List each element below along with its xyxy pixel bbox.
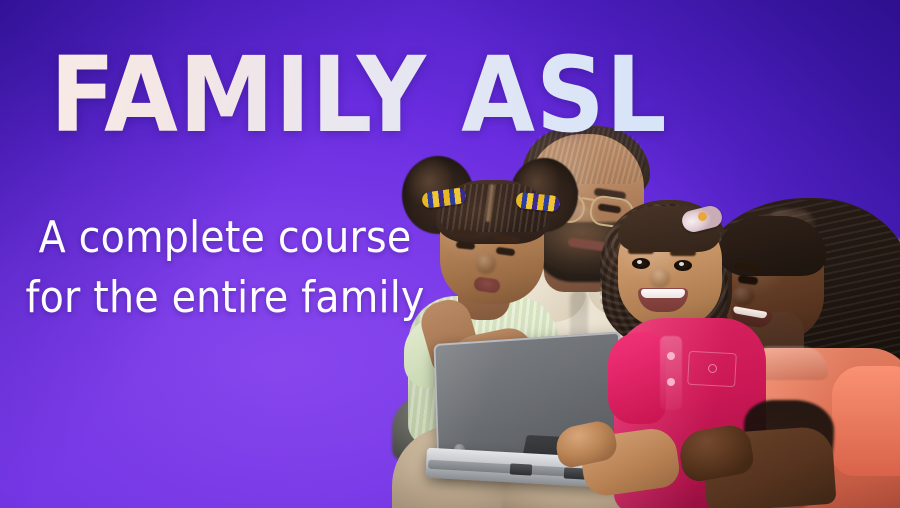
- girl-teeth: [641, 289, 685, 298]
- subtitle-line-2: for the entire family: [0, 268, 450, 328]
- girl-shirt-button-bottom: [667, 378, 675, 386]
- girl-eyebrow-left: [628, 248, 654, 254]
- girl-shirt-button-top: [667, 352, 675, 360]
- girl-eye-highlight-right: [679, 262, 684, 266]
- girl-sleeve: [608, 332, 666, 424]
- mother-sleeve: [832, 366, 900, 476]
- girl-shirt-placket: [660, 336, 682, 410]
- page-title: FAMILY ASL: [50, 46, 668, 146]
- mother-nose: [732, 286, 754, 306]
- girl-hair-bead: [698, 212, 707, 221]
- girl-eyebrow-right: [670, 250, 696, 256]
- laptop-port-left: [510, 463, 533, 475]
- family-asl-banner: FAMILY ASL A complete course for the ent…: [0, 0, 900, 508]
- girl-eye-highlight-left: [637, 260, 642, 264]
- subtitle-line-1: A complete course: [0, 208, 450, 268]
- toddler-nose: [476, 254, 496, 274]
- girl-pocket-button: [708, 364, 717, 373]
- page-subtitle: A complete course for the entire family: [0, 208, 450, 328]
- girl-nose: [650, 268, 670, 288]
